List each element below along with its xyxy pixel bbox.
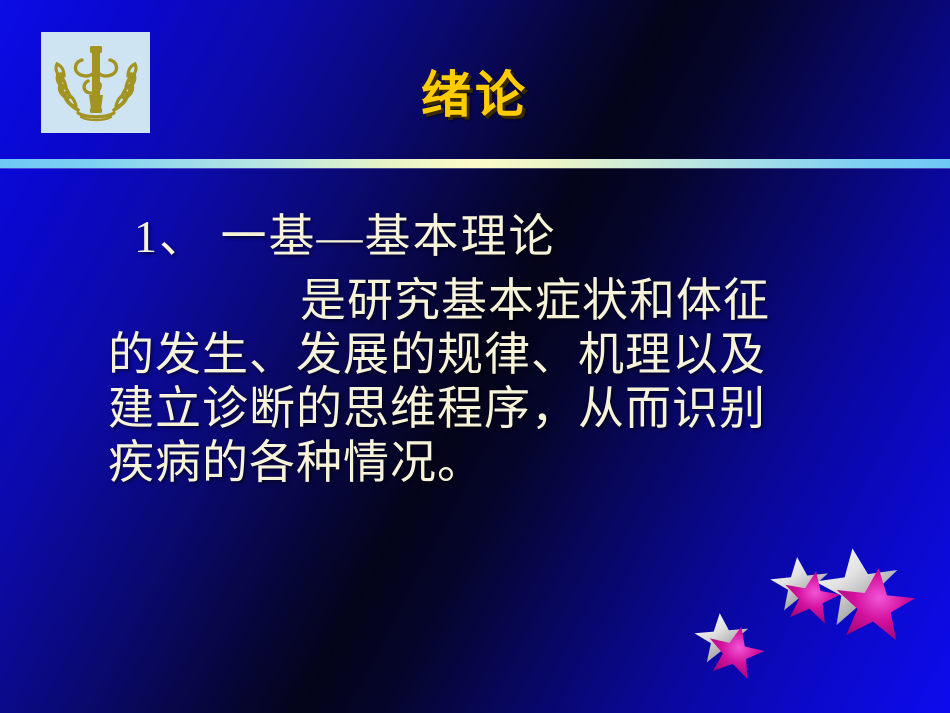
star-back-silver-icon (768, 554, 831, 611)
star-decoration-cluster (690, 540, 940, 690)
header-divider (0, 159, 950, 168)
presentation-slide: 绪论 1、 一基—基本理论 是研究基本症状和体征 的发生、发展的规律、机理以及 … (0, 0, 950, 713)
star-pair-large (811, 540, 927, 654)
star-pair-small (693, 609, 773, 687)
body-line-4: 建立诊断的思维程序，从而识别 (104, 382, 904, 436)
body-line-1: 1、 一基—基本理论 (104, 210, 904, 264)
star-front-magenta-icon (780, 566, 844, 625)
body-line-3: 的发生、发展的规律、机理以及 (104, 328, 904, 382)
star-front-magenta-icon (703, 620, 769, 681)
body-line-5: 疾病的各种情况。 (104, 436, 904, 490)
body-line-2: 是研究基本症状和体征 (104, 274, 904, 328)
star-back-silver-icon (811, 543, 903, 628)
star-front-magenta-icon (832, 564, 918, 642)
star-back-silver-icon (693, 611, 751, 663)
slide-body-text: 1、 一基—基本理论 是研究基本症状和体征 的发生、发展的规律、机理以及 建立诊… (104, 210, 904, 490)
page-title: 绪论 (0, 66, 950, 124)
star-pair-medium (768, 553, 848, 632)
